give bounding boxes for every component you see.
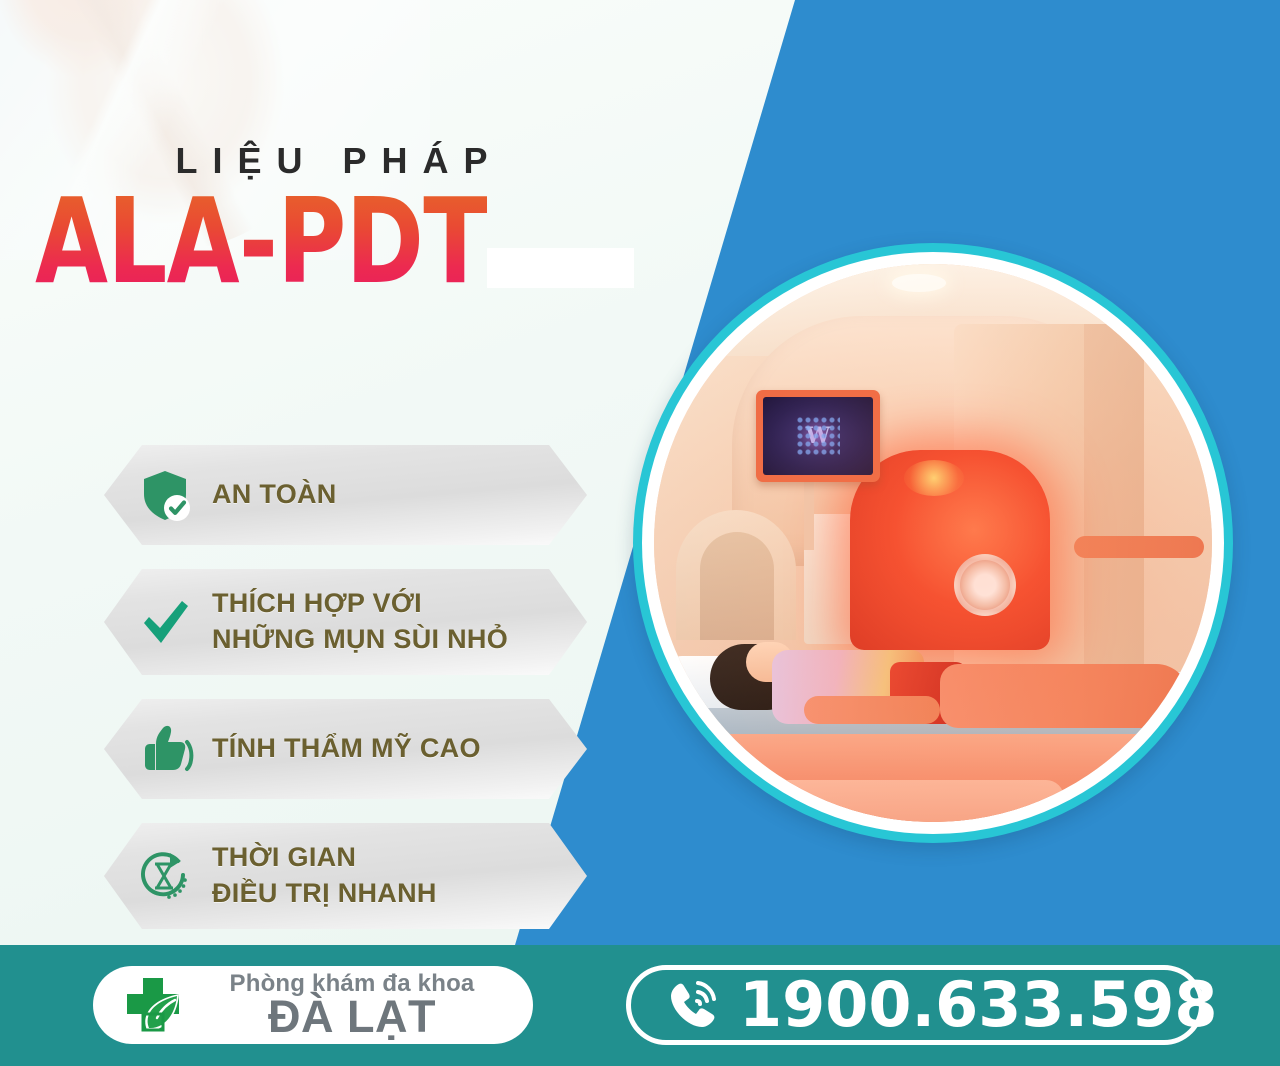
feature-line-2: ĐIỀU TRỊ NHANH <box>212 876 437 912</box>
feature-badge-label: THỜI GIAN ĐIỀU TRỊ NHANH <box>212 840 437 911</box>
headline-block: LIỆU PHÁP ALA-PDT <box>0 140 660 308</box>
thumbs-up-icon <box>134 718 196 780</box>
clinic-name: ĐÀ LẠT <box>268 994 436 1039</box>
clinic-text-block: Phòng khám đa khoa ĐÀ LẠT <box>197 971 533 1039</box>
feature-line-1: AN TOÀN <box>212 479 337 509</box>
feature-line-2: NHỮNG MỤN SÙI NHỎ <box>212 622 508 658</box>
check-mark-icon <box>134 591 196 653</box>
feature-badge-label: AN TOÀN <box>212 477 337 513</box>
feature-badge-label: TÍNH THẨM MỸ CAO <box>212 731 481 767</box>
feature-badge-an-toan[interactable]: AN TOÀN <box>104 445 587 545</box>
feature-badge-thich-hop[interactable]: THÍCH HỢP VỚI NHỮNG MỤN SÙI NHỎ <box>104 569 587 675</box>
feature-line-1: THÍCH HỢP VỚI <box>212 588 422 618</box>
ringing-phone-icon <box>665 977 721 1033</box>
treatment-photo: W <box>654 264 1212 822</box>
clinic-logo-pill[interactable]: Phòng khám đa khoa ĐÀ LẠT <box>93 966 533 1044</box>
headline-brand: ALA-PDT <box>35 182 487 300</box>
feature-badge-list: AN TOÀN THÍCH HỢP VỚI NHỮNG MỤN SÙI NHỎ <box>104 445 594 953</box>
feature-line-1: TÍNH THẨM MỸ CAO <box>212 733 481 763</box>
poster-canvas: LIỆU PHÁP ALA-PDT AN TOÀN <box>0 0 1280 1066</box>
footer-bar: Phòng khám đa khoa ĐÀ LẠT 1900.633.598 <box>0 945 1280 1066</box>
hotline-number: 1900.633.598 <box>739 974 1218 1036</box>
feature-line-1: THỜI GIAN <box>212 842 356 872</box>
hotline-pill[interactable]: 1900.633.598 <box>626 965 1204 1045</box>
shield-check-icon <box>134 464 196 526</box>
hourglass-clock-icon <box>134 845 196 907</box>
feature-badge-tham-my[interactable]: TÍNH THẨM MỸ CAO <box>104 699 587 799</box>
green-cross-leaf-icon <box>117 974 189 1036</box>
treatment-photo-ring: W <box>633 243 1233 843</box>
feature-badge-thoi-gian[interactable]: THỜI GIAN ĐIỀU TRỊ NHANH <box>104 823 587 929</box>
headline-brand-row: ALA-PDT <box>0 188 660 308</box>
feature-badge-label: THÍCH HỢP VỚI NHỮNG MỤN SÙI NHỎ <box>212 586 508 657</box>
blank-white-box <box>487 248 634 288</box>
